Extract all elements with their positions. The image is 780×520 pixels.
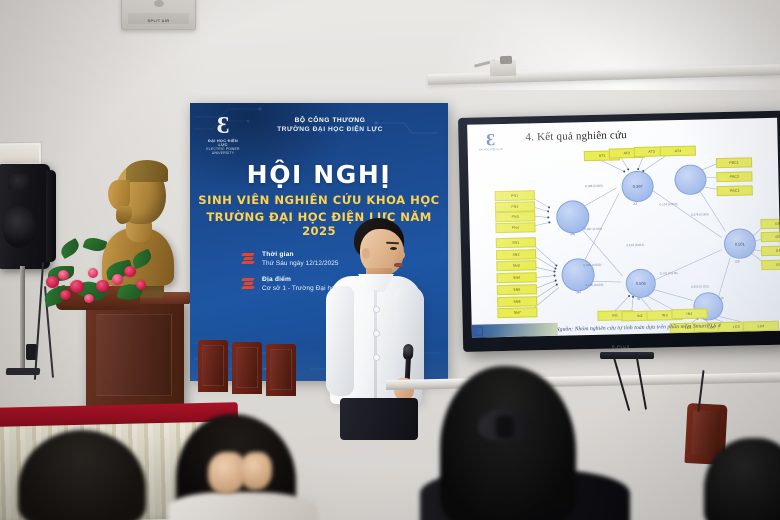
- slide-footer-bar: [472, 323, 558, 338]
- banner-ministry-block: BỘ CÔNG THƯƠNG TRƯỜNG ĐẠI HỌC ĐIỆN LỰC: [246, 116, 414, 134]
- air-conditioner-unit: SPLIT AIR: [121, 0, 196, 30]
- node-label-at: AT: [633, 202, 637, 206]
- leaf: [58, 238, 82, 259]
- bust-hair: [126, 160, 168, 182]
- display-screen[interactable]: Ɛ ĐẠI HỌC ĐIỆN LỰC 4. Kết quả nghiên cứu: [467, 118, 780, 338]
- rail-clip: [500, 56, 512, 64]
- indicator-box: SN6: [497, 296, 536, 307]
- indicator-box: SN4: [497, 272, 536, 283]
- flower-bloom: [46, 276, 59, 288]
- indicator-box: AT4: [660, 145, 696, 156]
- indicator-box: PN3: [495, 212, 534, 223]
- presenter-left-arm: [326, 286, 354, 396]
- latent-node-in: 0.504: [625, 269, 656, 298]
- indicator-box: SN5: [497, 284, 536, 295]
- node-label-lo: LO: [719, 296, 723, 300]
- logo-subtitle: ELECTRIC POWER UNIVERSITY: [206, 147, 239, 155]
- conference-photo-scene: SPLIT AIR: [0, 0, 780, 520]
- time-icon: [242, 253, 255, 266]
- node-r2-in: 0.504: [636, 281, 646, 286]
- audience-hand: [240, 452, 272, 490]
- flower-bloom: [70, 280, 84, 293]
- leaf: [83, 235, 108, 254]
- pa-loudspeaker: [0, 164, 50, 269]
- path-label: 0.378 (0.000): [691, 212, 709, 216]
- speaker-tweeter-icon: [8, 174, 32, 190]
- pls-sem-diagram: 0.397 0.504 0.501 PN AT SN IN GP LO PN1 …: [467, 118, 780, 338]
- banner-subhead-line-1: SINH VIÊN NGHIÊN CỨU KHOA HỌC: [190, 193, 448, 207]
- presenter-mouth: [394, 263, 403, 267]
- flower-bloom: [60, 290, 71, 300]
- indicator-box: SN3: [497, 261, 536, 272]
- indicator-box: PBC2: [716, 172, 752, 183]
- indicator-box: GP3: [761, 245, 780, 256]
- hair-bow-knot: [496, 416, 514, 438]
- presenter-nose: [398, 251, 405, 259]
- location-icon: [242, 278, 255, 291]
- node-label-pn: PN: [570, 232, 575, 236]
- flower-bloom: [124, 266, 136, 277]
- chair: [266, 344, 296, 396]
- indicator-box: GP4: [762, 259, 780, 270]
- ac-label: SPLIT AIR: [122, 18, 195, 23]
- shirt-button: [373, 354, 380, 361]
- presenter-eye: [390, 247, 397, 250]
- chair-backrest: [236, 347, 258, 388]
- speaker-stand-pole: [20, 266, 25, 372]
- flower-bloom: [96, 280, 109, 292]
- indicator-box: PN2: [495, 201, 534, 212]
- university-logo: Ɛ ĐẠI HỌC ĐIỆN LỰC ELECTRIC POWER UNIVER…: [206, 114, 240, 152]
- slide-footer-mark-icon: [475, 326, 483, 335]
- pedestal-panel: [96, 314, 172, 396]
- indicator-box: PN4: [496, 222, 535, 233]
- indicator-box: GP1: [761, 219, 780, 230]
- presentation-display[interactable]: Ɛ ĐẠI HỌC ĐIỆN LỰC 4. Kết quả nghiên cứu: [458, 111, 780, 352]
- indicator-box: IN4: [671, 308, 707, 319]
- audience-member-shoulder: [168, 492, 318, 520]
- wall-picture-frame: [0, 142, 42, 167]
- indicator-box: PBC1: [716, 158, 752, 169]
- logo-caption: ĐẠI HỌC ĐIỆN LỰC ELECTRIC POWER UNIVERSI…: [206, 139, 240, 155]
- flower-bloom: [84, 294, 94, 303]
- presenter-ear: [362, 248, 370, 259]
- speaker-woofer-icon: [2, 206, 36, 248]
- shirt-button: [373, 330, 380, 337]
- shirt-button: [373, 306, 380, 313]
- path-label: 0.134 (0.000): [660, 202, 678, 206]
- logo-mark-icon: Ɛ: [206, 114, 240, 138]
- path-label: 0.176 (0.046): [660, 271, 678, 275]
- flower-bloom: [136, 280, 146, 290]
- banner-headline: HỘI NGHỊ: [190, 160, 448, 189]
- indicator-box: GP2: [761, 231, 780, 242]
- presenter-trousers: [340, 398, 418, 440]
- latent-node-at: 0.397: [622, 171, 654, 202]
- path-label: 0.103 (0.012): [626, 243, 644, 247]
- chair-backrest: [202, 345, 224, 386]
- indicator-box: SN1: [496, 237, 535, 248]
- bust-pedestal: [86, 300, 184, 412]
- chair: [232, 342, 262, 394]
- path-label: 0.305 (0.023): [691, 284, 709, 288]
- display-brand-label: E-PLUS: [612, 344, 630, 349]
- node-r2-gp: 0.501: [735, 241, 745, 246]
- node-label-gp: GP: [735, 259, 740, 263]
- chair: [198, 340, 228, 392]
- display-mount-bracket: [600, 352, 654, 359]
- logo-name: ĐẠI HỌC ĐIỆN LỰC: [206, 139, 240, 147]
- node-label-in: IN: [637, 297, 640, 301]
- flower-bloom: [88, 268, 98, 278]
- presenter-person: [322, 218, 446, 438]
- frame-inner: [0, 145, 39, 164]
- flower-bloom: [112, 274, 123, 285]
- flower-arrangement: [44, 236, 156, 310]
- indicator-box: PBC3: [717, 185, 753, 196]
- node-r2-at: 0.397: [633, 184, 643, 189]
- indicator-box: SN7: [498, 307, 537, 318]
- path-label: 0.385 (0.002): [583, 262, 601, 266]
- path-label: 0.186 (0.000): [585, 184, 603, 188]
- flower-bloom: [58, 270, 69, 280]
- indicator-box: PN1: [495, 190, 534, 201]
- ac-vent-icon: [154, 0, 164, 7]
- node-label-sn: SN: [576, 291, 581, 295]
- indicator-box: SN2: [496, 249, 535, 260]
- frame-text: [0, 145, 39, 153]
- path-label: 0.287 (0.020): [584, 227, 602, 231]
- display-bezel: Ɛ ĐẠI HỌC ĐIỆN LỰC 4. Kết quả nghiên cứu: [458, 111, 780, 352]
- path-label: 0.186 (0.003): [585, 283, 603, 287]
- ministry-line-2: TRƯỜNG ĐẠI HỌC ĐIỆN LỰC: [246, 125, 414, 134]
- ministry-line-1: BỘ CÔNG THƯƠNG: [246, 116, 414, 125]
- chair-backrest: [270, 349, 292, 390]
